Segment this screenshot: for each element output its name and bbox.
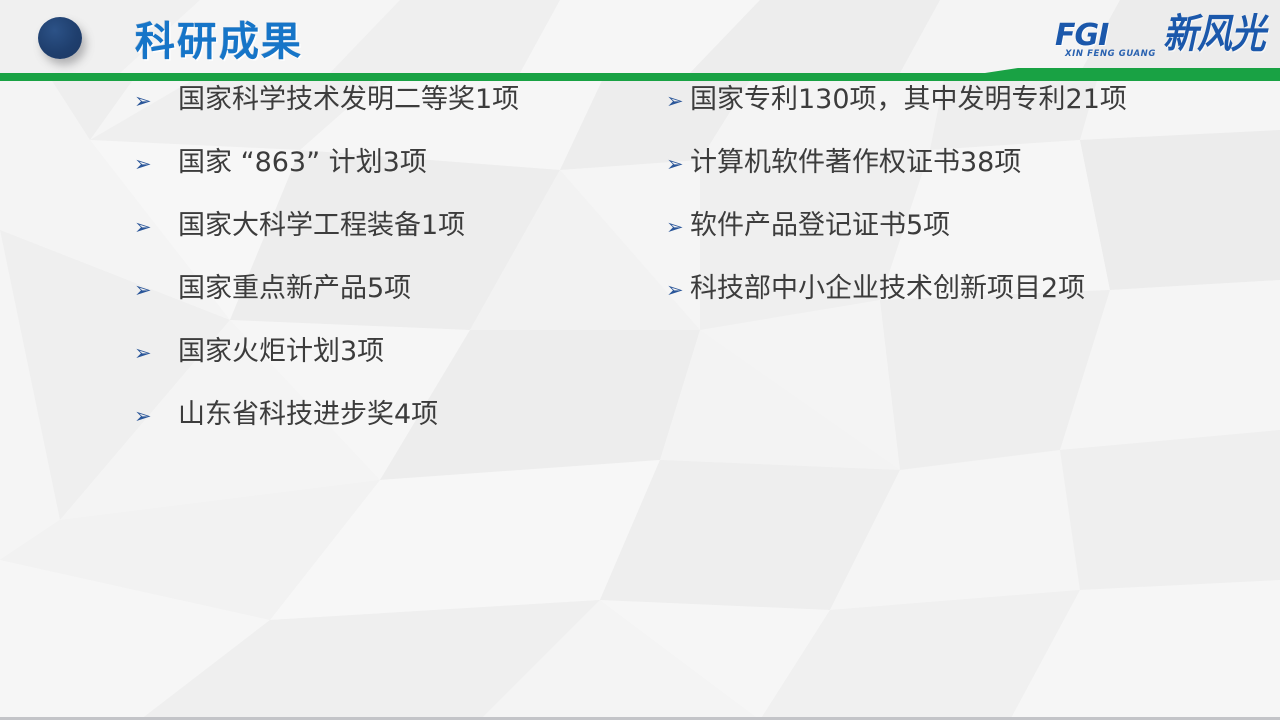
arrow-bullet-icon: ➢ [134,406,178,427]
company-logo: FGI XIN FENG GUANG 新风光 [1055,14,1268,60]
list-item-label: 软件产品登记证书5项 [690,212,950,239]
list-item-label: 国家科学技术发明二等奖1项 [178,86,519,113]
list-item: ➢ 国家专利130项，其中发明专利21项 [666,86,1206,149]
logo-mark-wrap: FGI XIN FENG GUANG [1055,22,1156,61]
list-item-label: 国家大科学工程装备1项 [178,212,465,239]
slide: 科研成果 FGI XIN FENG GUANG 新风光 ➢ 国家科学技术发明二等… [0,0,1280,720]
logo-pinyin-text: XIN FENG GUANG [1065,49,1156,59]
list-item: ➢ 国家火炬计划3项 [134,338,634,401]
logo-fgi-text: FGI [1055,22,1108,51]
list-item-label: 国家专利130项，其中发明专利21项 [690,86,1127,113]
list-item: ➢ 国家科学技术发明二等奖1项 [134,86,634,149]
slide-body: ➢ 国家科学技术发明二等奖1项 ➢ 国家 “863” 计划3项 ➢ 国家大科学工… [0,86,1280,720]
list-item-label: 山东省科技进步奖4项 [178,401,438,428]
list-item-label: 科技部中小企业技术创新项目2项 [690,275,1085,302]
arrow-bullet-icon: ➢ [134,154,178,175]
logo-chinese-text: 新风光 [1163,15,1265,60]
list-item: ➢ 软件产品登记证书5项 [666,212,1206,275]
arrow-bullet-icon: ➢ [134,343,178,364]
arrow-bullet-icon: ➢ [666,280,690,301]
achievements-left-column: ➢ 国家科学技术发明二等奖1项 ➢ 国家 “863” 计划3项 ➢ 国家大科学工… [134,86,634,464]
arrow-bullet-icon: ➢ [666,217,690,238]
arrow-bullet-icon: ➢ [666,154,690,175]
list-item-label: 国家火炬计划3项 [178,338,384,365]
list-item: ➢ 国家大科学工程装备1项 [134,212,634,275]
arrow-bullet-icon: ➢ [134,280,178,301]
list-item-label: 计算机软件著作权证书38项 [690,149,1021,176]
page-title: 科研成果 [135,9,303,67]
list-item: ➢ 科技部中小企业技术创新项目2项 [666,275,1206,338]
list-item: ➢ 计算机软件著作权证书38项 [666,149,1206,212]
arrow-bullet-icon: ➢ [666,91,690,112]
arrow-bullet-icon: ➢ [134,91,178,112]
list-item-label: 国家 “863” 计划3项 [178,149,427,176]
achievements-right-column: ➢ 国家专利130项，其中发明专利21项 ➢ 计算机软件著作权证书38项 ➢ 软… [666,86,1206,338]
green-divider-band [0,60,1280,86]
list-item: ➢ 国家重点新产品5项 [134,275,634,338]
header-ellipse-icon [38,17,82,59]
list-item: ➢ 山东省科技进步奖4项 [134,401,634,464]
arrow-bullet-icon: ➢ [134,217,178,238]
list-item: ➢ 国家 “863” 计划3项 [134,149,634,212]
list-item-label: 国家重点新产品5项 [178,275,411,302]
